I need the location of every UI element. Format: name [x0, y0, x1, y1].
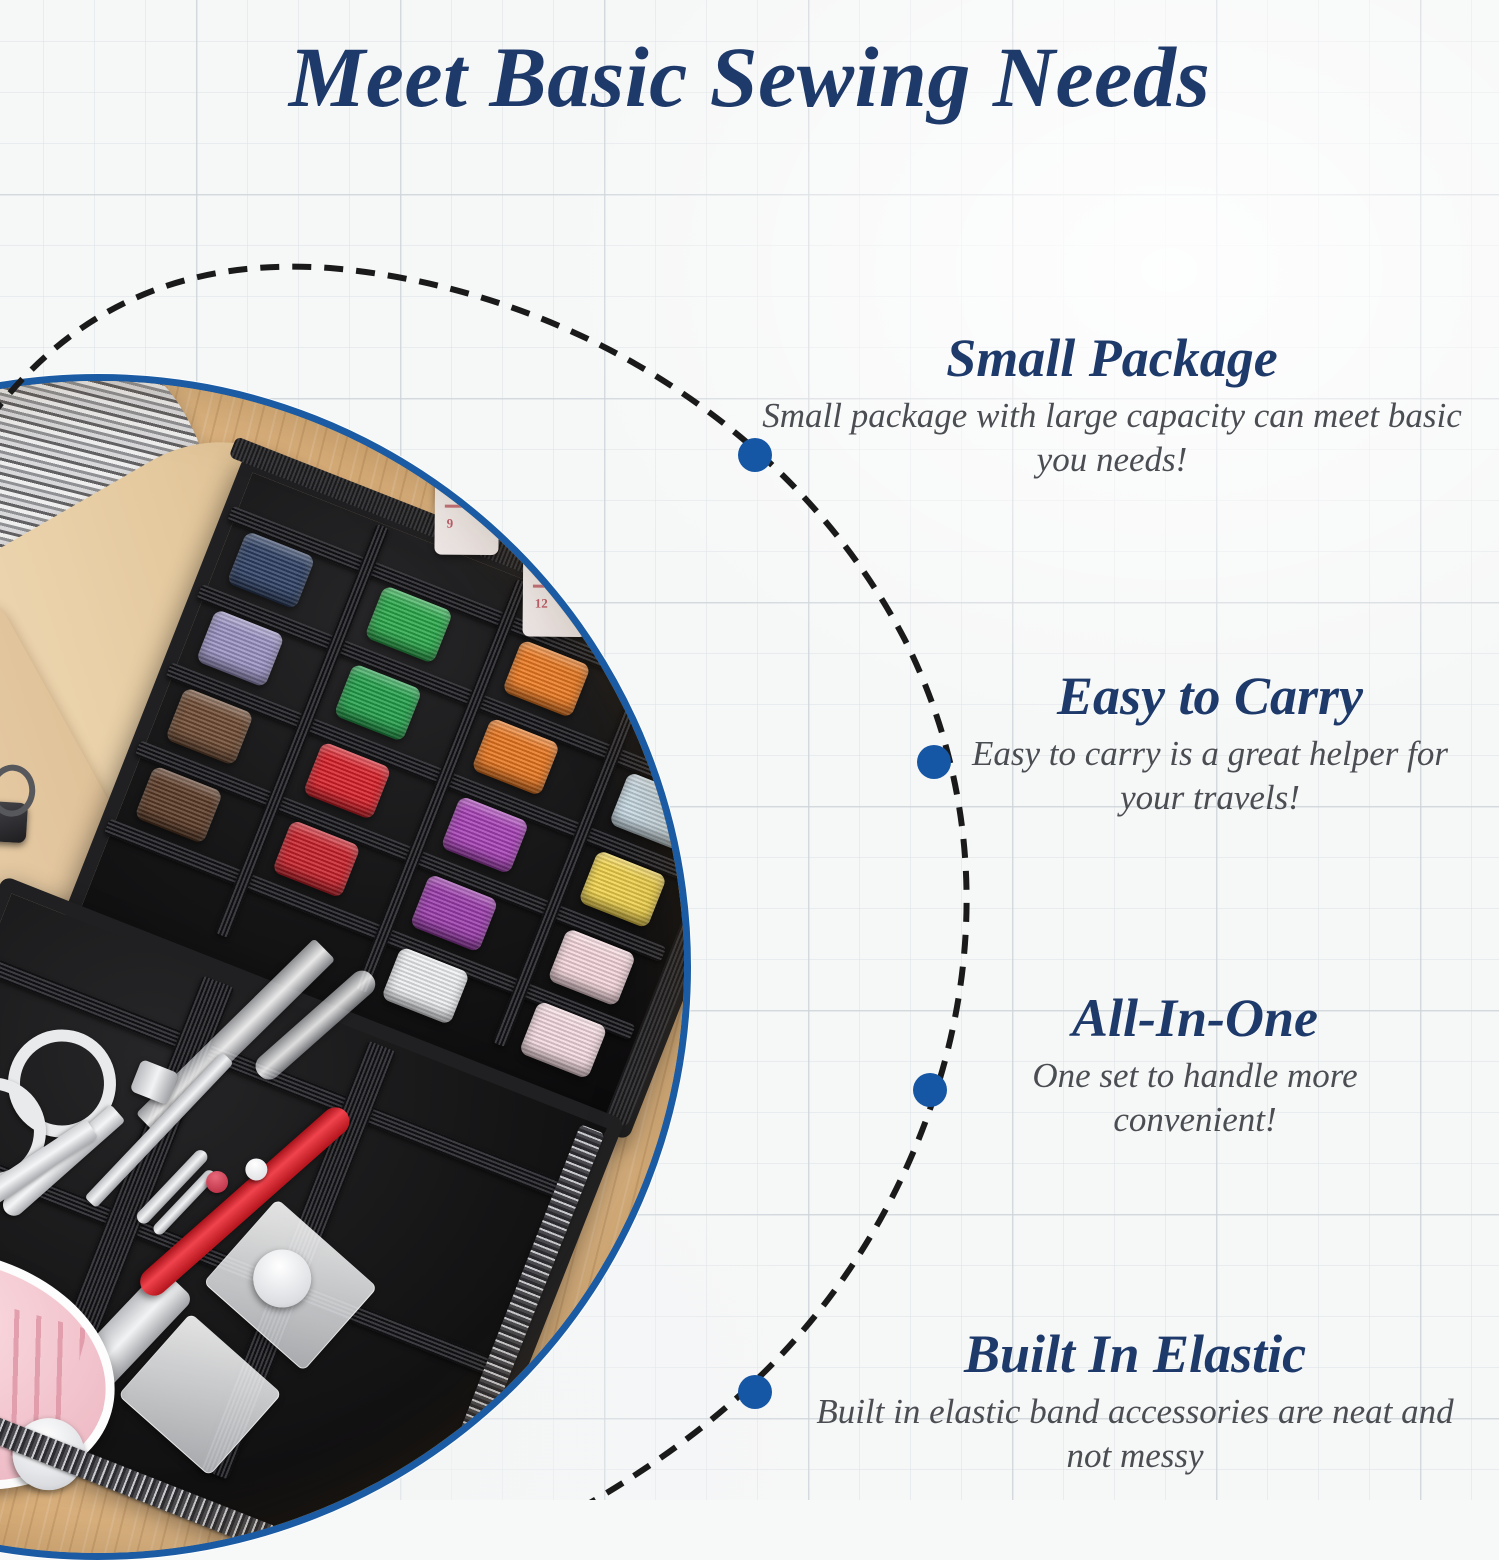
feature-title: Small Package	[742, 330, 1482, 386]
feature-description: Built in elastic band accessories are ne…	[790, 1390, 1480, 1478]
connector-dot-2	[917, 745, 951, 779]
feature-small-package: Small Package Small package with large c…	[742, 330, 1482, 482]
connector-dot-3	[913, 1073, 947, 1107]
feature-description: One set to handle more convenient!	[960, 1054, 1430, 1142]
connector-dot-4	[738, 1375, 772, 1409]
feature-all-in-one: All-In-One One set to handle more conven…	[960, 990, 1430, 1142]
feature-built-in-elastic: Built In Elastic Built in elastic band a…	[790, 1326, 1480, 1478]
feature-description: Easy to carry is a great helper for your…	[960, 732, 1460, 820]
feature-title: All-In-One	[960, 990, 1430, 1046]
feature-title: Built In Elastic	[790, 1326, 1480, 1382]
feature-easy-to-carry: Easy to Carry Easy to carry is a great h…	[960, 668, 1460, 820]
feature-description: Small package with large capacity can me…	[742, 394, 1482, 482]
feature-title: Easy to Carry	[960, 668, 1460, 724]
